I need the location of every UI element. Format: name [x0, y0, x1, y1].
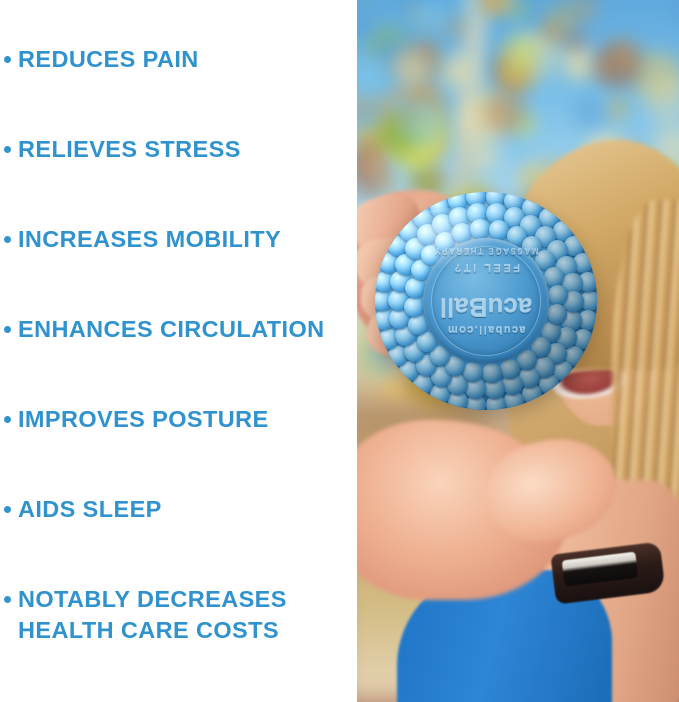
benefit-label: IMPROVES POSTURE	[18, 404, 269, 435]
benefits-panel: REDUCES PAIN RELIEVES STRESS INCREASES M…	[0, 0, 357, 702]
list-item: AIDS SLEEP	[0, 494, 357, 584]
list-item: NOTABLY DECREASES HEALTH CARE COSTS	[0, 584, 357, 674]
benefit-label: INCREASES MOBILITY	[18, 224, 281, 255]
promo-graphic: REDUCES PAIN RELIEVES STRESS INCREASES M…	[0, 0, 679, 702]
bullet-icon	[4, 596, 11, 603]
benefit-label: AIDS SLEEP	[18, 494, 162, 525]
benefit-label: RELIEVES STRESS	[18, 134, 241, 165]
benefit-label: ENHANCES CIRCULATION	[18, 314, 325, 345]
benefit-label: NOTABLY DECREASES HEALTH CARE COSTS	[18, 584, 287, 646]
list-item: ENHANCES CIRCULATION	[0, 314, 357, 404]
product-photo: MASSAGE THERAPY FEEL IT? acuBall acuball…	[357, 0, 679, 702]
bullet-icon	[4, 236, 11, 243]
list-item: INCREASES MOBILITY	[0, 224, 357, 314]
bullet-icon	[4, 56, 11, 63]
list-item: IMPROVES POSTURE	[0, 404, 357, 494]
bullet-icon	[4, 506, 11, 513]
list-item: RELIEVES STRESS	[0, 134, 357, 224]
ball-center-ring	[431, 246, 541, 356]
bullet-icon	[4, 416, 11, 423]
acuball: MASSAGE THERAPY FEEL IT? acuBall acuball…	[375, 192, 597, 410]
list-item: REDUCES PAIN	[0, 44, 357, 134]
bullet-icon	[4, 146, 11, 153]
bullet-icon	[4, 326, 11, 333]
benefit-label: REDUCES PAIN	[18, 44, 199, 75]
